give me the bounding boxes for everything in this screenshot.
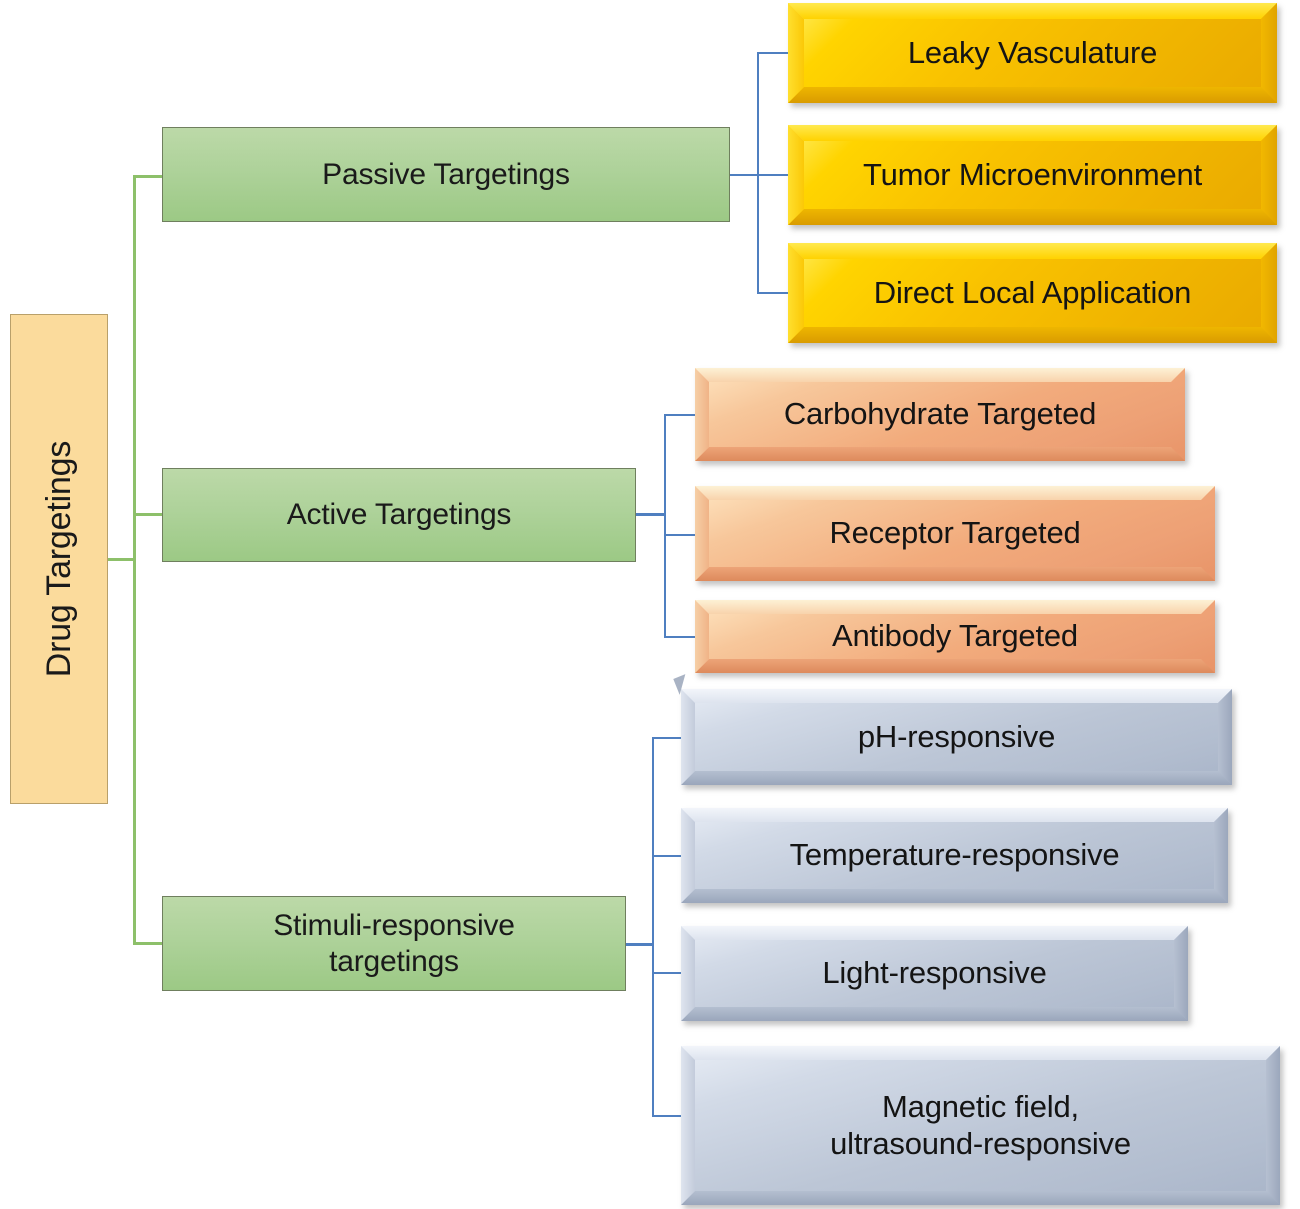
connector-passive-to-tumor (757, 174, 789, 176)
root-node-label: Drug Targetings (39, 441, 79, 677)
branch-node-passive-targetings[interactable]: Passive Targetings (162, 127, 730, 222)
bevel-bottom-edge (788, 87, 1277, 103)
connector-stimuli-trunk (652, 737, 654, 1117)
leaf-node-antibody-targeted[interactable]: Antibody Targeted (695, 600, 1215, 673)
bevel-top-edge (695, 600, 1215, 614)
connector-passive-trunk (757, 52, 759, 293)
bevel-bottom-edge (695, 447, 1185, 461)
connector-stimuli-to-light (652, 972, 682, 974)
connector-stimuli-stub (625, 943, 654, 946)
connector-active-to-receptor (664, 534, 696, 536)
connector-stimuli-to-ph (652, 737, 682, 739)
leaf-node-ph-responsive[interactable]: pH-responsive (681, 689, 1232, 785)
leaf-node-label: Direct Local Application (860, 275, 1205, 312)
bevel-bottom-edge (695, 567, 1215, 581)
bevel-left-edge (695, 368, 709, 461)
bevel-top-edge (681, 926, 1188, 940)
connector-root-to-active (133, 513, 163, 516)
bevel-left-edge (681, 1046, 695, 1205)
leaf-node-label: Receptor Targeted (815, 515, 1094, 552)
bevel-right-edge (1171, 368, 1185, 461)
bevel-bottom-edge (695, 659, 1215, 673)
leaf-node-label: Carbohydrate Targeted (770, 396, 1110, 433)
bevel-bottom-edge (788, 327, 1277, 343)
leaf-node-label: Temperature-responsive (776, 837, 1134, 874)
leaf-node-label: pH-responsive (844, 719, 1069, 756)
connector-stimuli-to-magnetic (652, 1115, 682, 1117)
leaf-node-light-responsive[interactable]: Light-responsive (681, 926, 1188, 1021)
bevel-top-edge (695, 486, 1215, 500)
bevel-left-edge (695, 486, 709, 581)
bevel-right-edge (1266, 1046, 1280, 1205)
bevel-right-edge (1201, 486, 1215, 581)
connector-root-trunk (133, 175, 136, 945)
branch-node-stimuli-label: Stimuli-responsive targetings (273, 908, 514, 979)
leaf-node-receptor-targeted[interactable]: Receptor Targeted (695, 486, 1215, 581)
leaf-node-magnetic-ultrasound-responsive[interactable]: Magnetic field, ultrasound-responsive (681, 1046, 1280, 1205)
connector-root-stub (108, 558, 136, 561)
bevel-right-edge (1261, 3, 1277, 103)
diagram-canvas: Drug Targetings Passive Targetings Activ… (0, 0, 1300, 1209)
bevel-top-edge (681, 689, 1232, 703)
leaf-node-label: Antibody Targeted (818, 618, 1092, 655)
bevel-left-edge (788, 243, 804, 343)
bevel-top-edge (695, 368, 1185, 382)
leaf-node-label: Leaky Vasculature (894, 35, 1171, 72)
bevel-right-edge (1218, 689, 1232, 785)
bevel-right-edge (1261, 125, 1277, 225)
branch-node-stimuli-responsive-targetings[interactable]: Stimuli-responsive targetings (162, 896, 626, 991)
connector-active-stub (636, 513, 666, 516)
bevel-bottom-edge (681, 771, 1232, 785)
bevel-right-edge (1261, 243, 1277, 343)
bevel-left-edge (788, 125, 804, 225)
bevel-left-edge (681, 808, 695, 903)
leaf-node-carbohydrate-targeted[interactable]: Carbohydrate Targeted (695, 368, 1185, 461)
leaf-node-leaky-vasculature[interactable]: Leaky Vasculature (788, 3, 1277, 103)
bevel-left-edge (681, 689, 695, 785)
bevel-top-edge (788, 3, 1277, 19)
connector-passive-to-direct (757, 292, 789, 294)
bevel-top-edge (681, 1046, 1280, 1060)
bevel-left-edge (681, 926, 695, 1021)
connector-root-to-passive (133, 175, 163, 178)
bevel-bottom-edge (681, 889, 1228, 903)
connector-active-trunk (664, 414, 666, 638)
root-node-drug-targetings[interactable]: Drug Targetings (10, 314, 108, 804)
branch-node-passive-label: Passive Targetings (322, 157, 570, 192)
connector-stimuli-to-temperature (652, 855, 682, 857)
connector-passive-stub (729, 174, 758, 176)
leaf-node-tumor-microenvironment[interactable]: Tumor Microenvironment (788, 125, 1277, 225)
connector-active-to-antibody (664, 636, 696, 638)
bevel-bottom-edge (681, 1191, 1280, 1205)
bevel-top-edge (681, 808, 1228, 822)
bevel-right-edge (1214, 808, 1228, 903)
leaf-node-label: Tumor Microenvironment (849, 157, 1216, 194)
bevel-top-edge (788, 125, 1277, 141)
branch-node-active-targetings[interactable]: Active Targetings (162, 468, 636, 562)
connector-root-to-stimuli (133, 942, 163, 945)
bevel-bottom-edge (681, 1007, 1188, 1021)
leaf-node-label: Magnetic field, ultrasound-responsive (816, 1089, 1145, 1162)
connector-passive-to-leaky (757, 52, 789, 54)
bevel-right-edge (1174, 926, 1188, 1021)
bevel-top-edge (788, 243, 1277, 259)
leaf-node-direct-local-application[interactable]: Direct Local Application (788, 243, 1277, 343)
connector-active-to-carbohydrate (664, 414, 696, 416)
leaf-node-label: Light-responsive (808, 955, 1060, 992)
branch-node-active-label: Active Targetings (287, 497, 512, 532)
bevel-bottom-edge (788, 209, 1277, 225)
bevel-left-edge (788, 3, 804, 103)
leaf-node-temperature-responsive[interactable]: Temperature-responsive (681, 808, 1228, 903)
